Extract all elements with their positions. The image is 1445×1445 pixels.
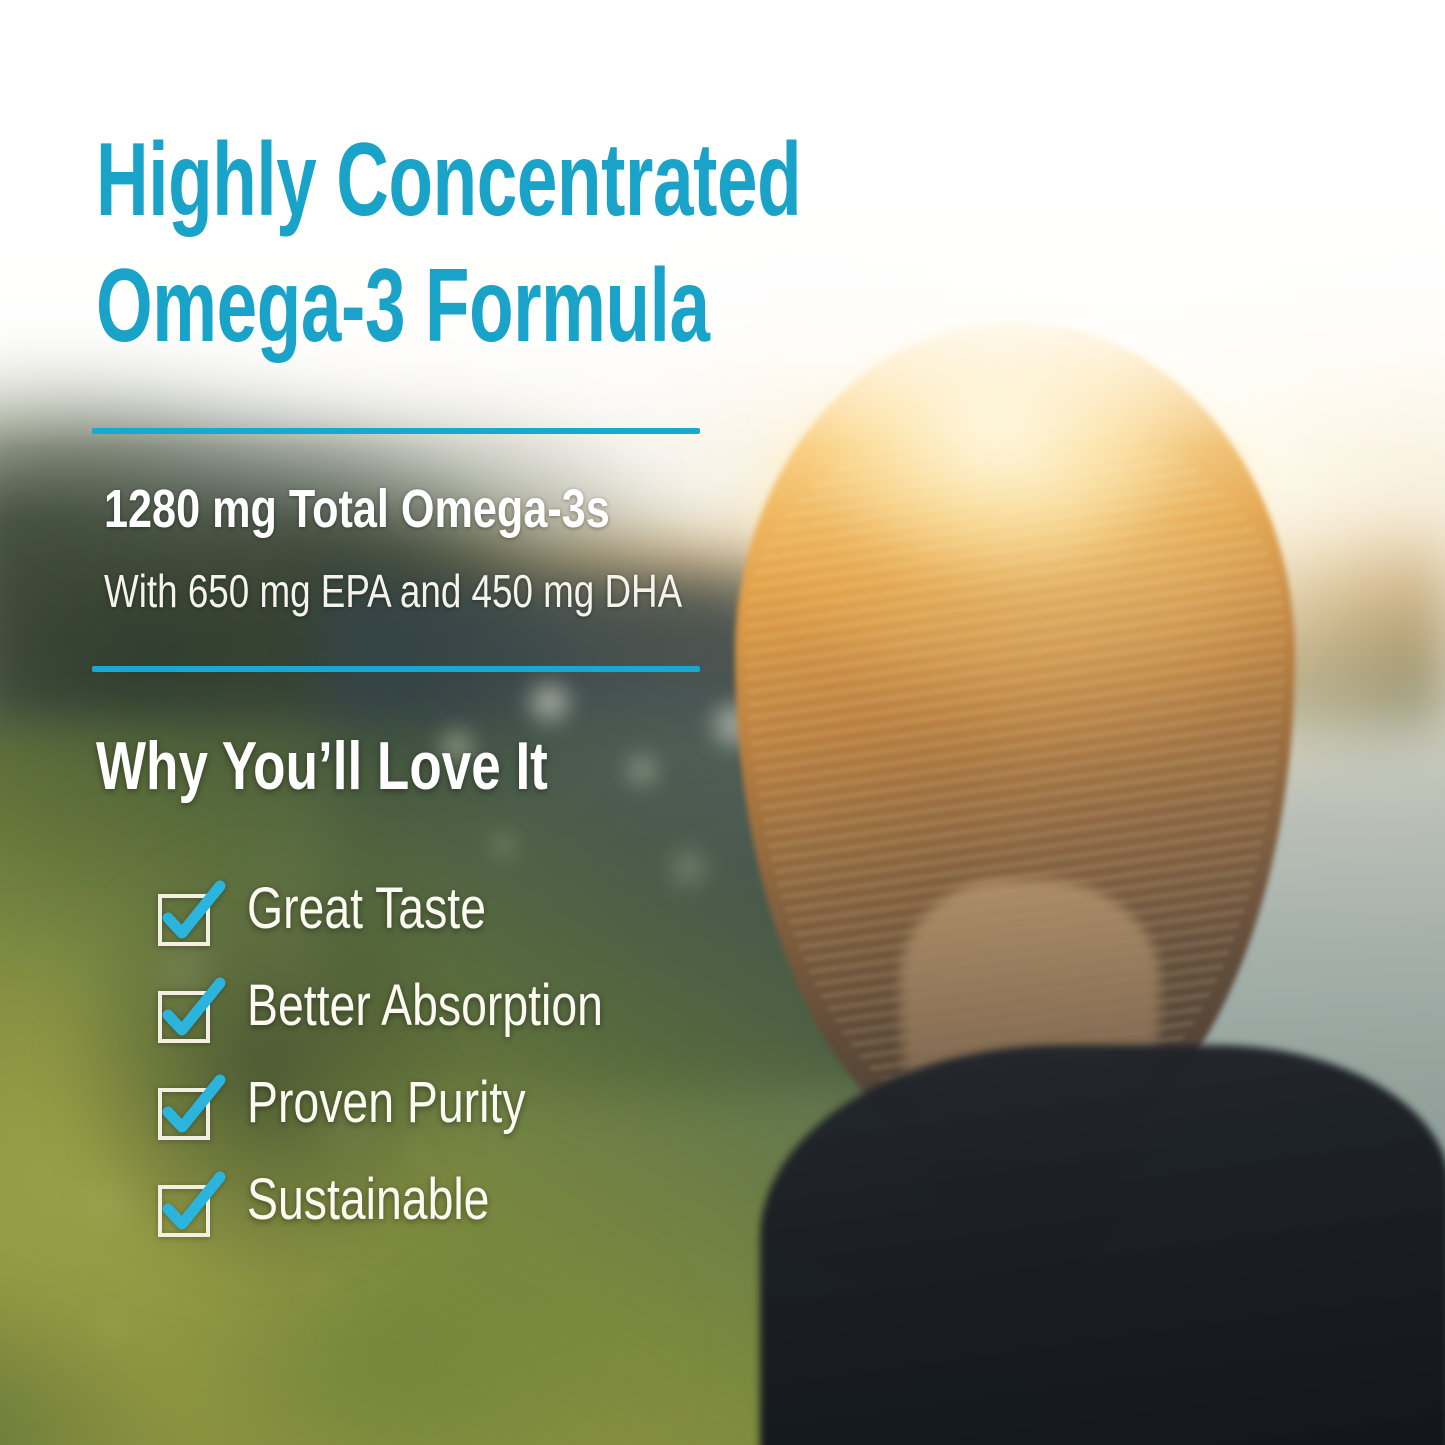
dosage-breakdown: With 650 mg EPA and 450 mg DHA [104,564,682,618]
benefit-item: Proven Purity [158,1074,858,1171]
headline: Highly Concentrated Omega-3 Formula [96,118,670,370]
benefit-label: Better Absorption [247,977,603,1035]
benefit-item: Better Absorption [158,977,858,1074]
benefit-label: Great Taste [247,880,486,938]
product-feature-graphic: Highly Concentrated Omega-3 Formula 1280… [0,0,1445,1445]
benefits-section-title: Why You’ll Love It [96,727,548,805]
benefit-label: Sustainable [247,1171,490,1229]
divider-rule-bottom [92,666,700,672]
checkbox-checked-icon [158,991,210,1043]
dosage-total: 1280 mg Total Omega-3s [104,478,610,540]
checkbox-checked-icon [158,1185,210,1237]
benefits-list: Great Taste Better Absorption Proven Pur… [158,880,858,1268]
headline-line-1: Highly Concentrated [96,118,670,244]
divider-rule-top [92,428,700,434]
checkbox-checked-icon [158,1088,210,1140]
benefit-label: Proven Purity [247,1074,526,1132]
headline-line-2: Omega-3 Formula [96,244,670,370]
benefit-item: Sustainable [158,1171,858,1268]
content-overlay: Highly Concentrated Omega-3 Formula 1280… [0,0,1445,1445]
checkbox-checked-icon [158,894,210,946]
benefit-item: Great Taste [158,880,858,977]
